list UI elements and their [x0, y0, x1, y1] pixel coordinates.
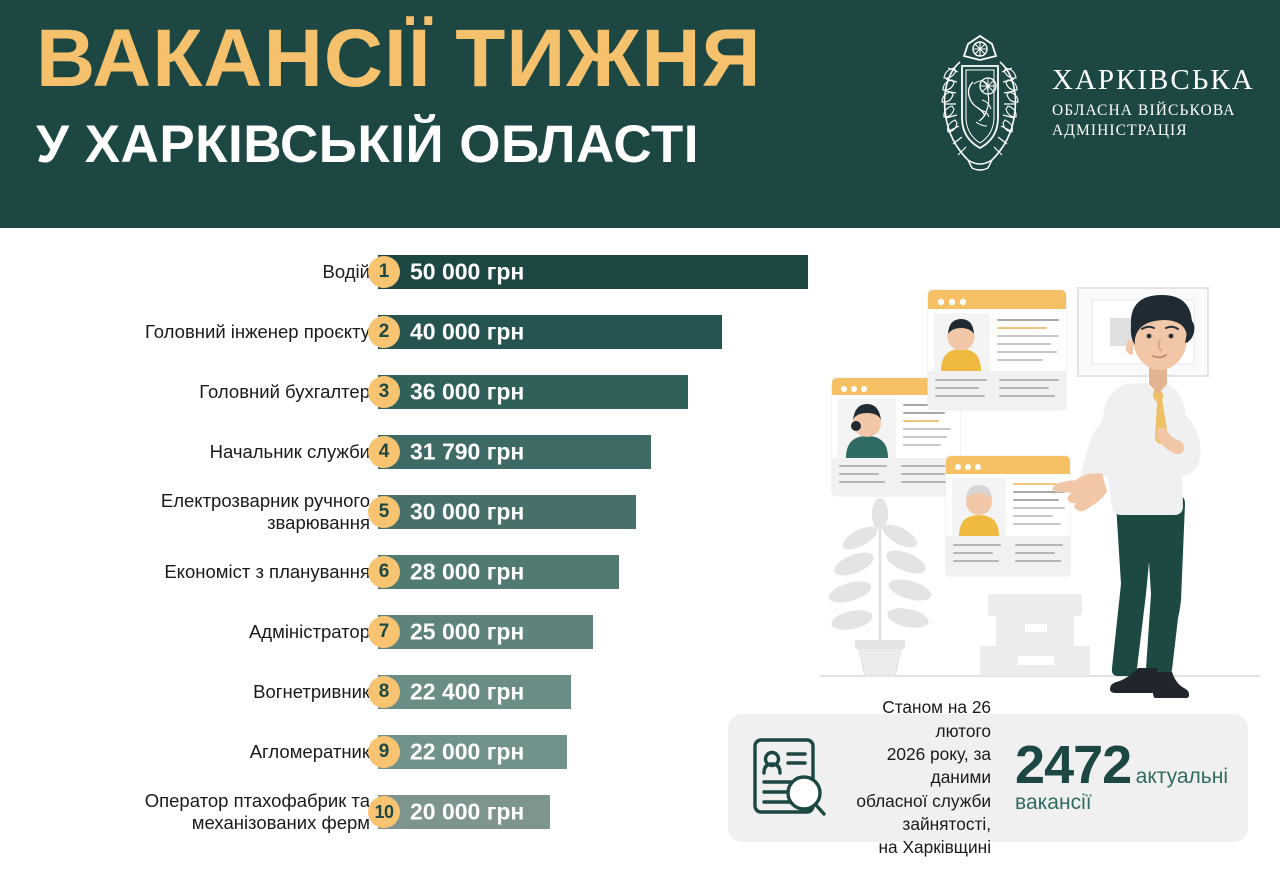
chart-row-label: Головний інженер проєкту: [70, 321, 370, 343]
cv-search-icon: [750, 735, 828, 821]
chart-rank-badge: 10: [368, 796, 400, 828]
kharkiv-coat-of-arms-icon: [930, 30, 1030, 175]
cv-card-shape: [928, 290, 1066, 410]
chart-bar: 725 000 грн: [378, 615, 593, 649]
chart-bar: 628 000 грн: [378, 555, 619, 589]
chart-bar-value: 30 000 грн: [410, 499, 524, 526]
potted-plant-shape: [826, 498, 933, 676]
infographic-page: ВАКАНСІЇ ТИЖНЯ У ХАРКІВСЬКІЙ ОБЛАСТІ: [0, 0, 1280, 871]
chart-rank-badge: 9: [368, 736, 400, 768]
chart-row: Економіст з планування628 000 грн: [0, 550, 830, 594]
organization-logo: ХАРКІВСЬКА ОБЛАСНА ВІЙСЬКОВА АДМІНІСТРАЦ…: [930, 30, 1255, 175]
chart-bar-value: 50 000 грн: [410, 259, 524, 286]
chart-bar-value: 36 000 грн: [410, 379, 524, 406]
chart-bar-value: 28 000 грн: [410, 559, 524, 586]
chart-bar-value: 20 000 грн: [410, 799, 524, 826]
chart-bar: 336 000 грн: [378, 375, 688, 409]
chart-row-label: Електрозварник ручного зварювання: [70, 490, 370, 534]
logo-line-3: АДМІНІСТРАЦІЯ: [1052, 121, 1255, 141]
chart-row: Головний бухгалтер336 000 грн: [0, 370, 830, 414]
chart-rank-badge: 8: [368, 676, 400, 708]
header-banner: ВАКАНСІЇ ТИЖНЯ У ХАРКІВСЬКІЙ ОБЛАСТІ: [0, 0, 1280, 228]
chart-bar: 431 790 грн: [378, 435, 651, 469]
chart-row: Агломератник922 000 грн: [0, 730, 830, 774]
vacancy-count: 2472: [1015, 735, 1131, 795]
logo-line-2: ОБЛАСНА ВІЙСЬКОВА: [1052, 101, 1255, 121]
chart-row: Головний інженер проєкту240 000 грн: [0, 310, 830, 354]
chart-rank-badge: 1: [368, 256, 400, 288]
chart-bar: 150 000 грн: [378, 255, 808, 289]
page-subtitle: У ХАРКІВСЬКІЙ ОБЛАСТІ: [36, 118, 762, 171]
infobox-count-block: 2472 актуальні вакансії: [1013, 740, 1228, 816]
chart-row-label: Вогнетривник: [70, 681, 370, 703]
logo-text-block: ХАРКІВСЬКА ОБЛАСНА ВІЙСЬКОВА АДМІНІСТРАЦ…: [1052, 64, 1255, 140]
chart-row-label: Начальник служби: [70, 441, 370, 463]
cabinet-shape: [980, 594, 1090, 676]
chart-row-label: Адміністратор: [70, 621, 370, 643]
chart-row: Електрозварник ручного зварювання530 000…: [0, 490, 830, 534]
chart-row-label: Агломератник: [70, 741, 370, 763]
chart-row-label: Економіст з планування: [70, 561, 370, 583]
chart-row: Оператор птахофабрик та механізованих фе…: [0, 790, 830, 834]
chart-row-label: Водій: [70, 261, 370, 283]
status-infobox: Станом на 26 лютого 2026 року, за даними…: [728, 714, 1248, 842]
vacancy-salary-bar-chart: Водій150 000 грнГоловний інженер проєкту…: [0, 228, 830, 871]
chart-bar: 530 000 грн: [378, 495, 636, 529]
cv-card-shape: [946, 456, 1070, 576]
chart-bar: 922 000 грн: [378, 735, 567, 769]
chart-rank-badge: 2: [368, 316, 400, 348]
chart-rank-badge: 4: [368, 436, 400, 468]
chart-bar-value: 31 790 грн: [410, 439, 524, 466]
chart-rank-badge: 5: [368, 496, 400, 528]
job-search-illustration: [820, 268, 1280, 698]
chart-bar-value: 25 000 грн: [410, 619, 524, 646]
chart-row: Адміністратор725 000 грн: [0, 610, 830, 654]
chart-bar-value: 22 000 грн: [410, 739, 524, 766]
chart-row: Вогнетривник822 400 грн: [0, 670, 830, 714]
header-title-block: ВАКАНСІЇ ТИЖНЯ У ХАРКІВСЬКІЙ ОБЛАСТІ: [36, 18, 762, 171]
chart-rank-badge: 3: [368, 376, 400, 408]
chart-bar: 1020 000 грн: [378, 795, 550, 829]
chart-row: Начальник служби431 790 грн: [0, 430, 830, 474]
page-title: ВАКАНСІЇ ТИЖНЯ: [36, 18, 762, 100]
chart-bar-value: 22 400 грн: [410, 679, 524, 706]
chart-row-label: Оператор птахофабрик та механізованих фе…: [70, 790, 370, 834]
chart-row: Водій150 000 грн: [0, 250, 830, 294]
chart-bar: 240 000 грн: [378, 315, 722, 349]
chart-rank-badge: 6: [368, 556, 400, 588]
chart-bar: 822 400 грн: [378, 675, 571, 709]
chart-bar-value: 40 000 грн: [410, 319, 524, 346]
chart-rank-badge: 7: [368, 616, 400, 648]
infobox-description: Станом на 26 лютого 2026 року, за даними…: [844, 696, 997, 859]
chart-row-label: Головний бухгалтер: [70, 381, 370, 403]
logo-line-1: ХАРКІВСЬКА: [1052, 64, 1255, 96]
